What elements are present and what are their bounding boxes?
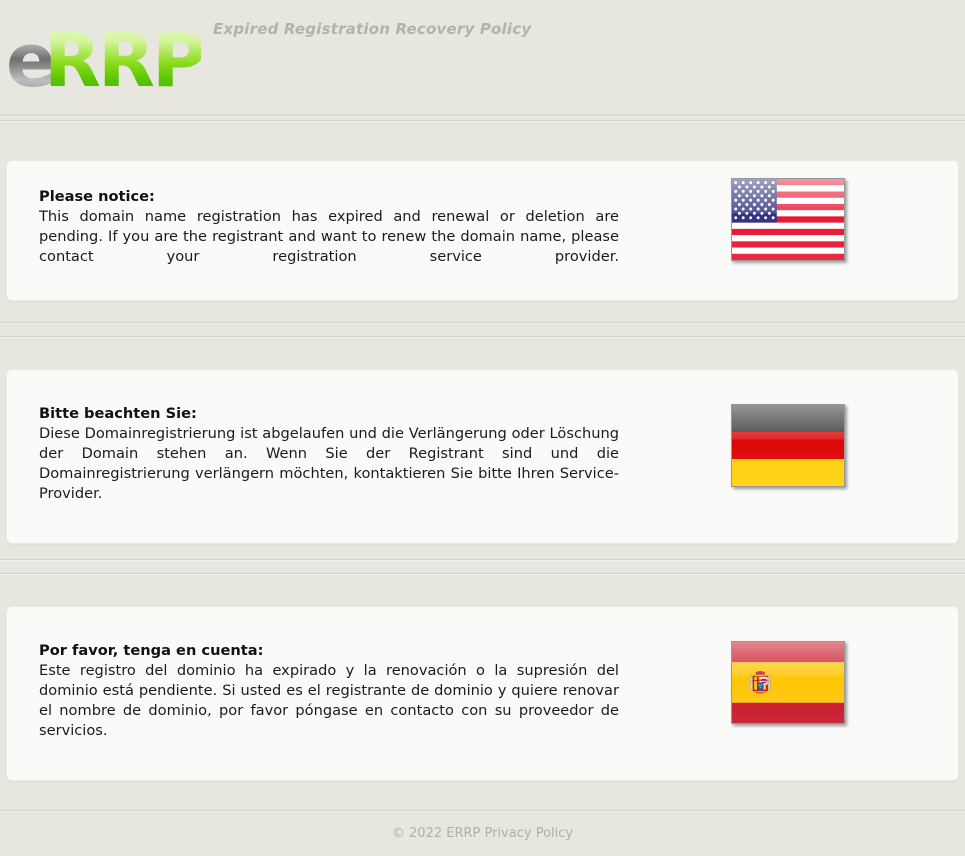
notice-text-es: Por favor, tenga en cuenta: Este registr… xyxy=(39,641,619,761)
notice-body-de: Diese Domainregistrierung ist abgelaufen… xyxy=(39,424,619,524)
notice-heading-en: Please notice: xyxy=(39,187,619,207)
notice-text-en: Please notice: This domain name registra… xyxy=(39,187,619,287)
flag-container-es xyxy=(725,635,845,727)
section-divider-4 xyxy=(0,573,965,575)
notice-panel-es: Por favor, tenga en cuenta: Este registr… xyxy=(6,606,959,781)
de-flag-icon xyxy=(731,404,845,487)
page-footer: © 2022 ERRP Privacy Policy xyxy=(0,826,965,841)
us-flag-icon xyxy=(731,178,845,261)
notice-heading-es: Por favor, tenga en cuenta: xyxy=(39,641,619,661)
page-title: Expired Registration Recovery Policy xyxy=(213,20,531,38)
footer-divider xyxy=(0,810,965,812)
errp-logo: e RRP xyxy=(6,14,201,92)
notice-heading-de: Bitte beachten Sie: xyxy=(39,404,619,424)
notice-panel-de: Bitte beachten Sie: Diese Domainregistri… xyxy=(6,369,959,544)
footer-copyright: © 2022 ERRP Privacy Policy xyxy=(392,826,573,841)
section-divider-3 xyxy=(0,559,965,561)
header-divider-top xyxy=(0,115,965,117)
section-divider-1 xyxy=(0,322,965,324)
notice-text-de: Bitte beachten Sie: Diese Domainregistri… xyxy=(39,404,619,524)
header-divider-bottom xyxy=(0,120,965,122)
notice-body-es: Este registro del dominio ha expirado y … xyxy=(39,661,619,761)
section-divider-2 xyxy=(0,336,965,338)
flag-container-de xyxy=(725,398,845,490)
logo-letters-rrp: RRP xyxy=(44,18,201,92)
es-flag-icon xyxy=(731,641,845,724)
flag-container-us xyxy=(725,172,845,264)
page-header: e RRP Expired Registration Recovery Poli… xyxy=(0,0,965,116)
notice-panel-en: Please notice: This domain name registra… xyxy=(6,160,959,301)
notice-body-en: This domain name registration has expire… xyxy=(39,207,619,287)
